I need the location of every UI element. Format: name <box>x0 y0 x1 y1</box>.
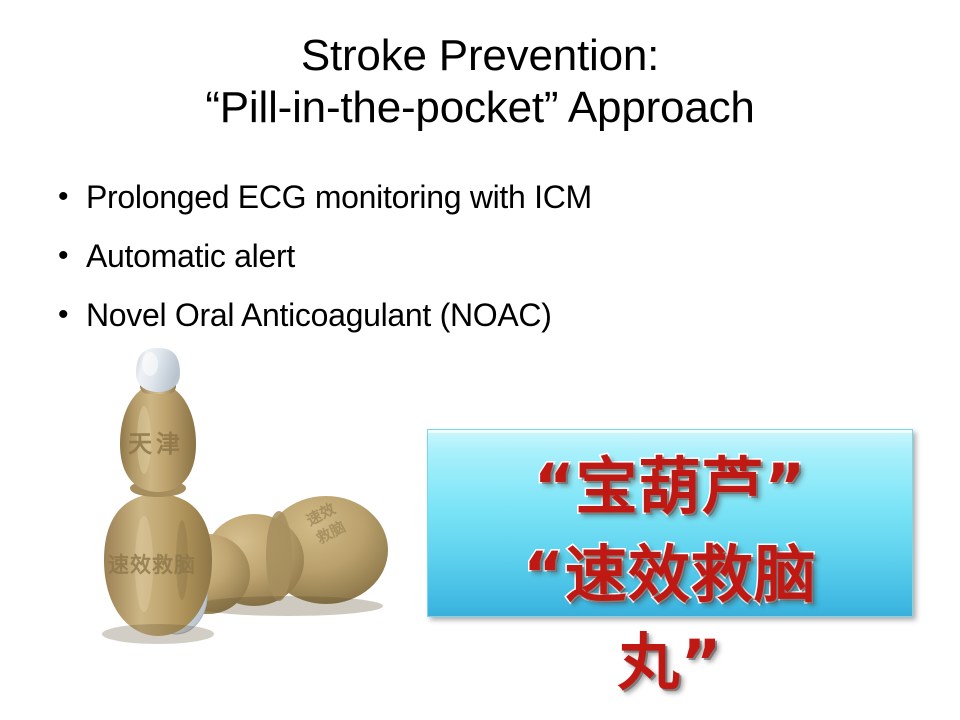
upright-bottle-cap <box>136 348 180 392</box>
svg-text:天津: 天津 <box>128 430 184 458</box>
slide-title: Stroke Prevention: “Pill-in-the-pocket” … <box>60 30 900 134</box>
bullet-item-3-label: Novel Oral Anticoagulant (NOAC) <box>86 294 552 336</box>
bullet-item-1: • Prolonged ECG monitoring with ICM <box>52 176 812 235</box>
gourd-bottle-photo: 速效 救脑 丸 <box>58 348 403 648</box>
slide-title-line-1: Stroke Prevention: <box>60 30 900 82</box>
callout-top-highlight <box>428 430 912 433</box>
bullet-item-3: • Novel Oral Anticoagulant (NOAC) <box>52 294 812 353</box>
blue-callout-box <box>427 429 913 617</box>
bullet-list: • Prolonged ECG monitoring with ICM • Au… <box>52 176 812 353</box>
bullet-marker-icon: • <box>52 235 86 277</box>
presentation-slide: Stroke Prevention: “Pill-in-the-pocket” … <box>0 0 960 720</box>
bullet-item-2: • Automatic alert <box>52 235 812 294</box>
bullet-item-2-label: Automatic alert <box>86 235 295 277</box>
callout-text-line-3: 丸” <box>427 619 913 707</box>
svg-text:速效救脑: 速效救脑 <box>108 553 196 577</box>
bullet-marker-icon: • <box>52 176 86 218</box>
slide-title-line-2: “Pill-in-the-pocket” Approach <box>60 82 900 134</box>
upright-bottle: 天津 速效救脑 <box>102 362 214 644</box>
bullet-marker-icon: • <box>52 294 86 336</box>
bullet-item-1-label: Prolonged ECG monitoring with ICM <box>86 176 592 218</box>
